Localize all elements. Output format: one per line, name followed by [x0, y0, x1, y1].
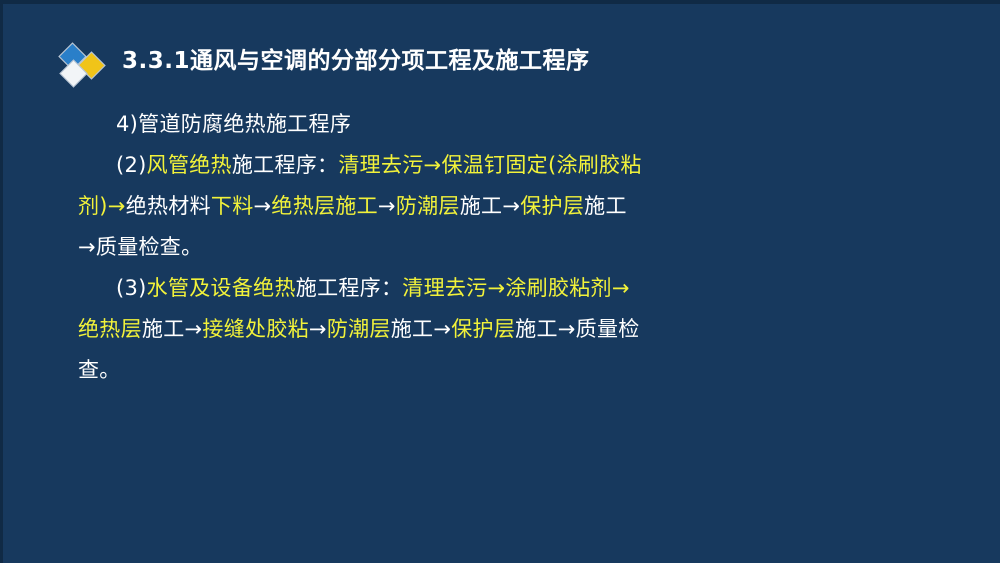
text-run: →	[309, 317, 327, 341]
text-run: 4)管道防腐绝热施工程序	[116, 112, 351, 136]
content-line-5: (3)水管及设备绝热施工程序：清理去污→涂刷胶粘剂→	[78, 268, 958, 309]
text-run: 保护层	[520, 194, 584, 218]
text-run: 清理去污→保温钉固定(涂刷胶粘	[338, 153, 641, 177]
text-run: 施工程序：	[232, 153, 339, 177]
text-run: →	[254, 194, 272, 218]
text-run: 风管绝热	[147, 153, 232, 177]
text-run: →	[433, 317, 451, 341]
content-line-1: 4)管道防腐绝热施工程序	[78, 104, 958, 145]
text-run: 施工	[515, 317, 558, 341]
text-run: →质量检	[558, 317, 640, 341]
text-run: 水管及设备绝热	[147, 276, 296, 300]
text-run: 绝热层施工	[271, 194, 378, 218]
text-run: 施工程序：	[296, 276, 403, 300]
text-run: 绝热层	[78, 317, 142, 341]
content-line-6: 绝热层施工→接缝处胶粘→防潮层施工→保护层施工→质量检	[78, 309, 958, 350]
text-run: →	[185, 317, 203, 341]
slide-canvas: 3.3.1通风与空调的分部分项工程及施工程序 4)管道防腐绝热施工程序 (2)风…	[0, 0, 1000, 563]
text-run: 防潮层	[327, 317, 391, 341]
text-run: →	[502, 194, 520, 218]
text-run: (3)	[116, 276, 147, 300]
text-run: 查。	[78, 358, 121, 382]
slide-body: 4)管道防腐绝热施工程序 (2)风管绝热施工程序：清理去污→保温钉固定(涂刷胶粘…	[78, 104, 958, 391]
content-line-2: (2)风管绝热施工程序：清理去污→保温钉固定(涂刷胶粘	[78, 145, 958, 186]
text-run: (2)	[116, 153, 147, 177]
text-run: →质量检查。	[78, 235, 202, 259]
text-run: 施工	[391, 317, 434, 341]
text-run: 剂)→	[78, 194, 126, 218]
slide-header: 3.3.1通风与空调的分部分项工程及施工程序	[0, 38, 1000, 90]
text-run: 防潮层	[396, 194, 460, 218]
text-run: 施工	[584, 194, 627, 218]
page-title: 3.3.1通风与空调的分部分项工程及施工程序	[122, 44, 590, 78]
text-run: 保护层	[451, 317, 515, 341]
content-line-7: 查。	[78, 350, 958, 391]
text-run: 施工	[142, 317, 185, 341]
text-run: →	[378, 194, 396, 218]
text-run: 绝热材料	[126, 194, 211, 218]
three-diamonds-logo-icon	[58, 42, 110, 90]
text-run: 施工	[460, 194, 503, 218]
text-run: 清理去污→涂刷胶粘剂→	[402, 276, 630, 300]
text-run: 接缝处胶粘	[202, 317, 309, 341]
content-line-3: 剂)→绝热材料下料→绝热层施工→防潮层施工→保护层施工	[78, 186, 958, 227]
text-run: 下料	[211, 194, 254, 218]
slide-top-edge	[0, 0, 1000, 4]
content-line-4: →质量检查。	[78, 227, 958, 268]
